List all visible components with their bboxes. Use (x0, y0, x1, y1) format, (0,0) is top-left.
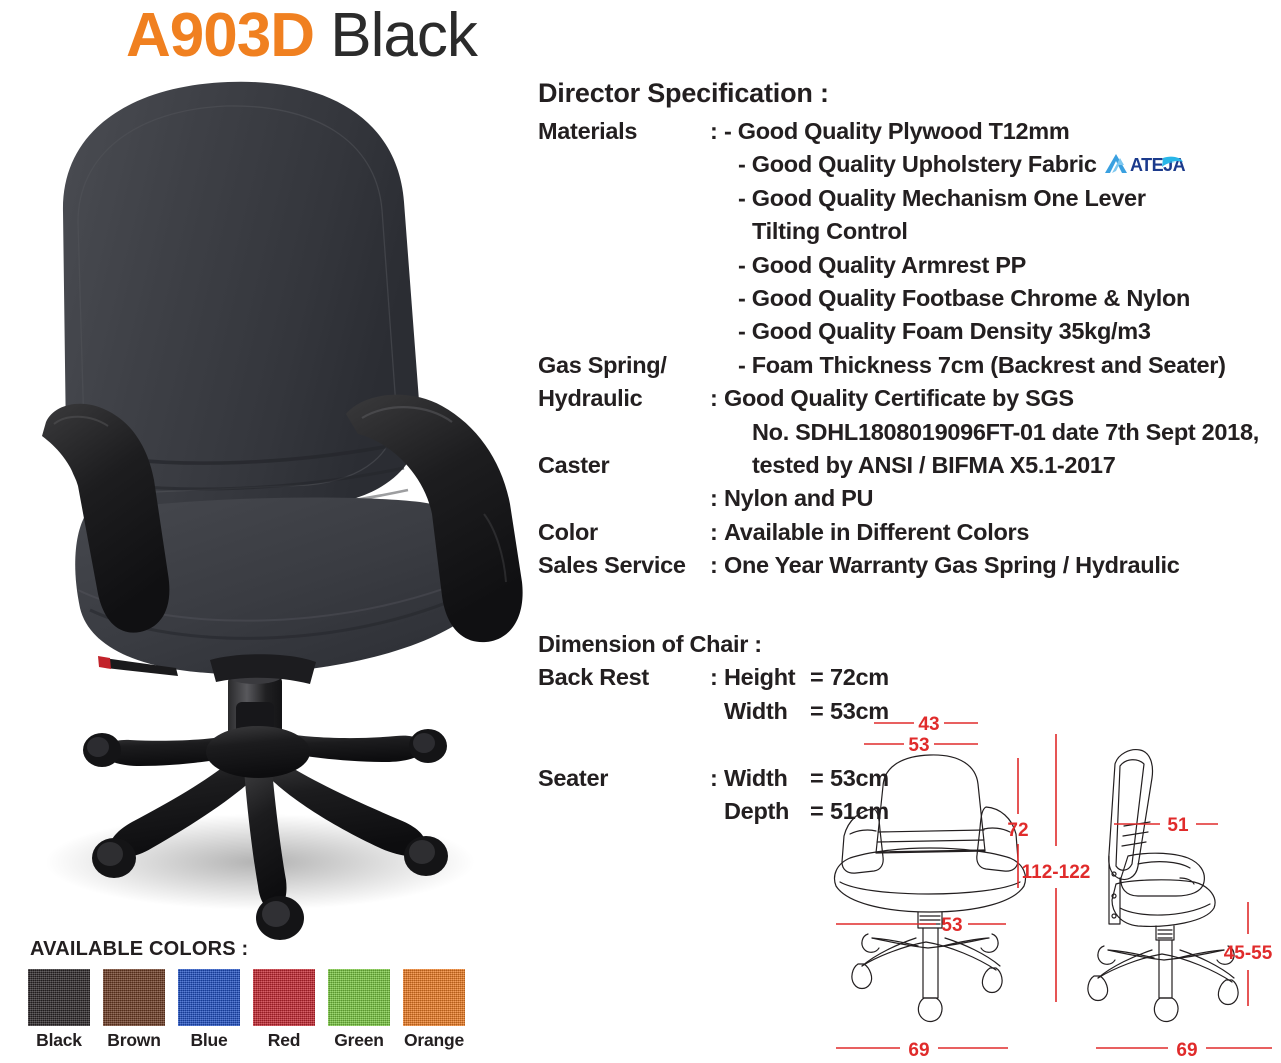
specification-heading: Director Specification : (538, 78, 1268, 109)
spec-value: - Good Quality Foam Density 35kg/m3 (738, 315, 1151, 348)
product-model-title: A903D (126, 1, 314, 70)
color-swatch-label: Black (28, 1030, 90, 1051)
dimensions-heading: Dimension of Chair : (538, 628, 762, 661)
spec-row: Tilting Control (538, 215, 1268, 248)
color-swatch-green[interactable] (328, 969, 390, 1026)
spec-value: Tilting Control (752, 215, 908, 248)
spec-row: Materials : - Good Quality Plywood T12mm (538, 115, 1268, 148)
spec-value: - Good Quality Upholstery FabricATEJA (738, 148, 1203, 185)
color-swatch-item[interactable]: Red (253, 969, 315, 1051)
dimension-colon: : (710, 661, 718, 694)
dimension-label-back-rest: Back Rest (538, 661, 649, 694)
spec-value: Available in Different Colors (724, 516, 1029, 549)
dimension-key: Height (724, 661, 795, 694)
dimension-key: Width (724, 762, 788, 795)
spec-value-text: - Good Quality Upholstery Fabric (738, 151, 1097, 177)
dimension-key: Depth (724, 795, 789, 828)
spec-row: - Good Quality Footbase Chrome & Nylon (538, 282, 1268, 315)
annotation-backrest-height: 72 (1007, 820, 1028, 841)
page-title: A903D Black (126, 2, 477, 70)
spec-row: Sales Service : One Year Warranty Gas Sp… (538, 549, 1268, 582)
spec-value: - Good Quality Footbase Chrome & Nylon (738, 282, 1190, 315)
annotation-backrest-width-top: 43 (918, 714, 939, 735)
spec-row: No. SDHL1808019096FT-01 date 7th Sept 20… (538, 416, 1268, 449)
spec-value: - Good Quality Armrest PP (738, 249, 1026, 282)
spec-value: tested by ANSI / BIFMA X5.1-2017 (752, 449, 1115, 482)
dimension-colon: : (710, 762, 718, 795)
color-swatch-item[interactable]: Orange (403, 969, 465, 1051)
spec-value: - Good Quality Plywood T12mm (724, 115, 1069, 148)
spec-row: Gas Spring/ - Foam Thickness 7cm (Backre… (538, 349, 1268, 382)
spec-row: - Good Quality Mechanism One Lever (538, 182, 1268, 215)
spec-value: Good Quality Certificate by SGS (724, 382, 1074, 415)
annotation-backrest-width: 53 (908, 735, 929, 756)
spec-row: - Good Quality Armrest PP (538, 249, 1268, 282)
spec-value-certificate-number: No. SDHL1808019096FT-01 date 7th Sept 20… (752, 416, 1259, 449)
color-swatch-item[interactable]: Green (328, 969, 390, 1051)
spec-row: Color : Available in Different Colors (538, 516, 1268, 549)
color-swatch-item[interactable]: Blue (178, 969, 240, 1051)
annotation-seat-depth: 51 (1167, 815, 1189, 836)
dimension-equals: = (810, 762, 823, 795)
color-swatch-blue[interactable] (178, 969, 240, 1026)
dimension-equals: = (810, 695, 823, 728)
color-swatch-label: Blue (178, 1030, 240, 1051)
color-swatch-row: Black Brown Blue Red Green Orange (28, 969, 465, 1051)
product-color-title: Black (330, 1, 477, 70)
spec-value: One Year Warranty Gas Spring / Hydraulic (724, 549, 1180, 582)
spec-label-sales-service: Sales Service (538, 549, 710, 582)
color-swatch-label: Orange (403, 1030, 465, 1051)
available-colors-heading: AVAILABLE COLORS : (30, 938, 465, 961)
annotation-seat-height: 45-55 (1224, 943, 1273, 964)
spec-label-gas-spring: Gas Spring/ (538, 349, 710, 382)
spec-row: Caster tested by ANSI / BIFMA X5.1-2017 (538, 449, 1268, 482)
dimension-equals: = (810, 661, 823, 694)
dimensions-heading-row: Dimension of Chair : (538, 628, 968, 661)
color-swatch-red[interactable] (253, 969, 315, 1026)
color-swatch-black[interactable] (28, 969, 90, 1026)
annotation-overall-height: 112-122 (1022, 862, 1091, 883)
spec-value: - Foam Thickness 7cm (Backrest and Seate… (738, 349, 1226, 382)
annotation-side-base-width: 69 (1176, 1040, 1197, 1061)
dimension-label-seater: Seater (538, 762, 608, 795)
dimension-value: 72cm (830, 661, 889, 694)
spec-colon: : (710, 516, 718, 549)
color-swatch-item[interactable]: Black (28, 969, 90, 1051)
color-swatch-label: Green (328, 1030, 390, 1051)
spec-label-hydraulic: Hydraulic (538, 382, 710, 415)
spec-label: Materials (538, 115, 710, 148)
specification-block: Director Specification : Materials : - G… (538, 78, 1268, 582)
specification-rows: Materials : - Good Quality Plywood T12mm… (538, 115, 1268, 582)
color-swatch-brown[interactable] (103, 969, 165, 1026)
spec-value: - Good Quality Mechanism One Lever (738, 182, 1146, 215)
spec-row: : Nylon and PU (538, 482, 1268, 515)
color-swatch-label: Red (253, 1030, 315, 1051)
spec-label-caster: Caster (538, 449, 710, 482)
spec-label-color: Color (538, 516, 710, 549)
product-photo (28, 62, 528, 942)
spec-colon: : (710, 549, 718, 582)
spec-row: - Good Quality Upholstery FabricATEJA (538, 148, 1268, 181)
color-swatch-orange[interactable] (403, 969, 465, 1026)
dimension-equals: = (810, 795, 823, 828)
spec-colon: : (710, 482, 718, 515)
available-colors-block: AVAILABLE COLORS : Black Brown Blue Red … (28, 938, 465, 1051)
spec-row: - Good Quality Foam Density 35kg/m3 (538, 315, 1268, 348)
dimension-row: Back Rest : Height = 72cm (538, 661, 968, 694)
dimension-key: Width (724, 695, 788, 728)
color-swatch-item[interactable]: Brown (103, 969, 165, 1051)
spec-row: Hydraulic : Good Quality Certificate by … (538, 382, 1268, 415)
annotation-front-base-width: 69 (908, 1040, 929, 1061)
color-swatch-label: Brown (103, 1030, 165, 1051)
spec-colon: : (710, 382, 718, 415)
technical-drawings: 43 53 72 53 69 112-122 51 45-55 69 (828, 706, 1281, 1063)
spec-value: Nylon and PU (724, 482, 873, 515)
annotation-seat-width: 53 (941, 915, 962, 936)
spec-colon: : (710, 115, 718, 148)
